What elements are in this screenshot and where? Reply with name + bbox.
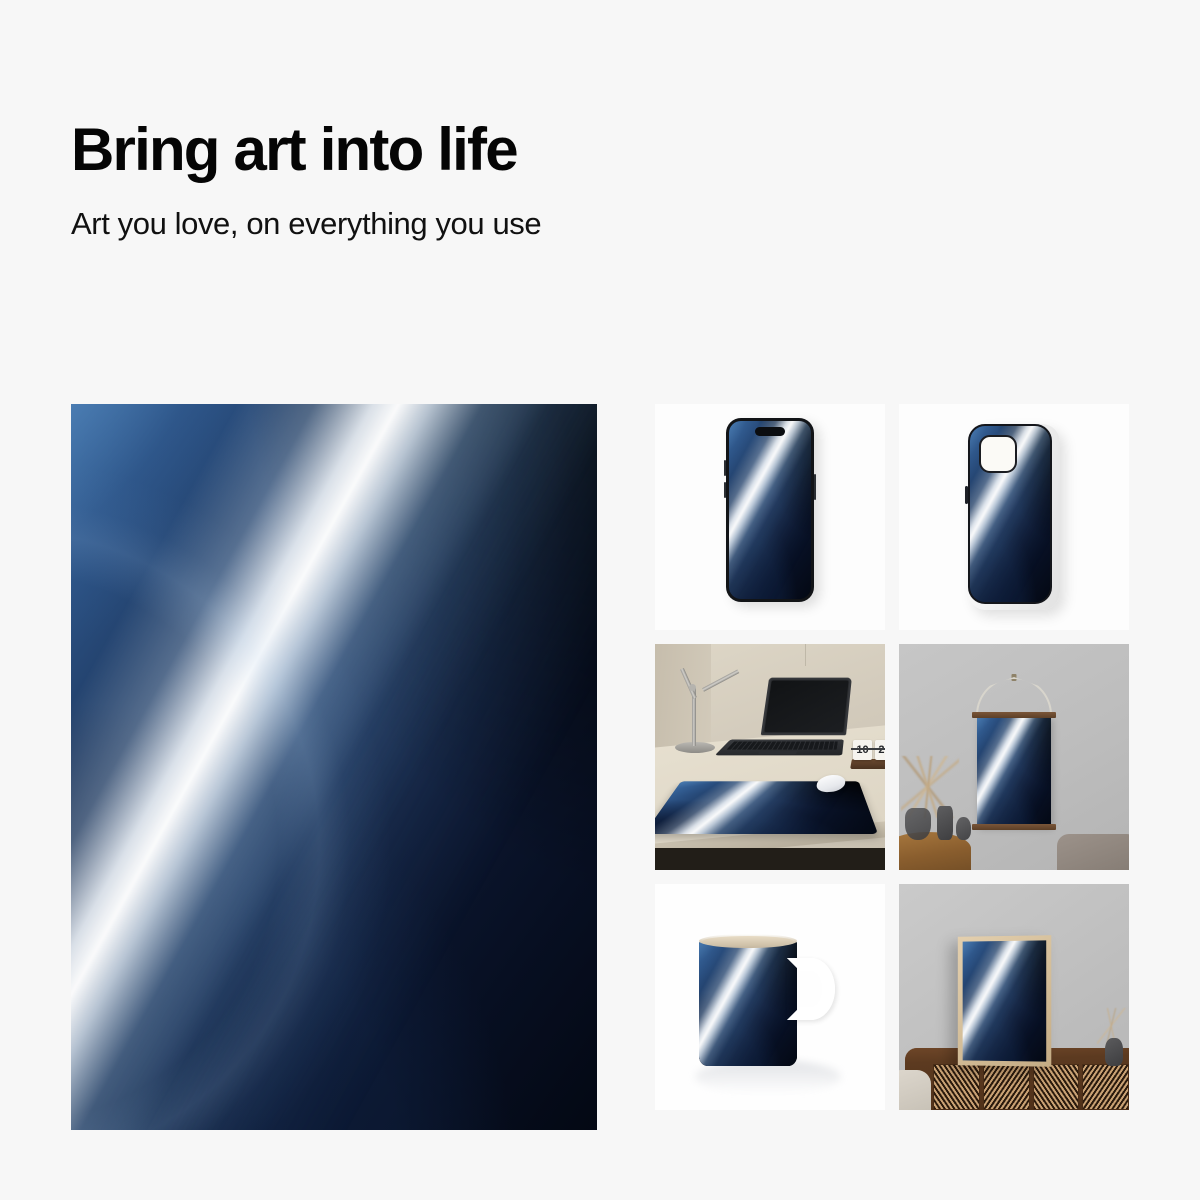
artwork-inner-arc <box>71 404 597 1130</box>
phone-device <box>726 418 814 602</box>
artwork-in-frame <box>963 940 1047 1061</box>
sofa <box>1057 834 1129 870</box>
desk-shadow-area <box>655 848 885 870</box>
calendar-day: 10 <box>853 740 872 760</box>
phone-screen <box>729 421 811 599</box>
poster-rail-top <box>972 712 1056 718</box>
calendar-bar <box>851 748 885 750</box>
calendar-date: 26 <box>875 740 885 760</box>
sideboard-panel <box>933 1064 980 1110</box>
artwork-on-hanging-poster <box>977 716 1051 826</box>
laptop-lid <box>761 678 852 736</box>
sideboard-panel <box>1082 1064 1129 1110</box>
camera-cutout-icon <box>979 435 1017 473</box>
artwork-on-desk-mat <box>655 781 878 834</box>
mug-interior <box>703 936 793 946</box>
mug-handle <box>787 958 835 1020</box>
mug-mockup[interactable] <box>655 884 885 1110</box>
phone-mockup[interactable] <box>655 404 885 630</box>
product-showcase-page: Bring art into life Art you love, on eve… <box>0 0 1200 1200</box>
sideboard-panel <box>983 1064 1030 1110</box>
page-header: Bring art into life Art you love, on eve… <box>71 118 541 242</box>
artwork-image <box>71 404 597 1130</box>
laptop-keyboard <box>726 741 837 749</box>
framed-print-mockup[interactable] <box>899 884 1129 1110</box>
desk-mat-mockup[interactable]: 10 26 <box>655 644 885 870</box>
laptop-base <box>715 739 844 755</box>
picture-frame <box>958 935 1051 1067</box>
hanging-poster-mockup[interactable] <box>899 644 1129 870</box>
desk-lamp-joint <box>689 684 696 691</box>
calendar-stand <box>850 759 885 769</box>
case-shell <box>968 424 1052 604</box>
page-subtitle: Art you love, on everything you use <box>71 205 541 242</box>
artwork-on-mug <box>699 940 797 1066</box>
desk-mat <box>655 781 878 834</box>
laptop-trackpad <box>758 751 797 754</box>
featured-artwork[interactable] <box>71 404 597 1130</box>
artwork-on-phone <box>729 421 811 599</box>
product-mockup-grid: 10 26 <box>655 404 1129 1130</box>
case-side-button <box>965 486 968 504</box>
armchair <box>899 1070 931 1110</box>
phone-case-mockup[interactable] <box>899 404 1129 630</box>
power-button <box>814 474 816 500</box>
framed-artwork <box>963 940 1047 1061</box>
ceramic-vase <box>1105 1038 1123 1066</box>
sideboard-panel <box>1033 1064 1080 1110</box>
poster-rail-bottom <box>972 824 1056 830</box>
tall-vase <box>937 806 953 840</box>
laptop-screen <box>764 680 848 732</box>
volume-up-button <box>724 460 726 476</box>
mug-body <box>699 940 797 1066</box>
poster-print <box>977 716 1051 826</box>
glass-vase <box>905 808 931 840</box>
small-vase <box>956 817 971 840</box>
hanging-cord <box>805 644 806 666</box>
dynamic-island-icon <box>755 427 785 436</box>
page-title: Bring art into life <box>71 118 541 183</box>
sideboard-panels <box>933 1064 1129 1110</box>
volume-down-button <box>724 482 726 498</box>
case-rim <box>968 424 1060 610</box>
